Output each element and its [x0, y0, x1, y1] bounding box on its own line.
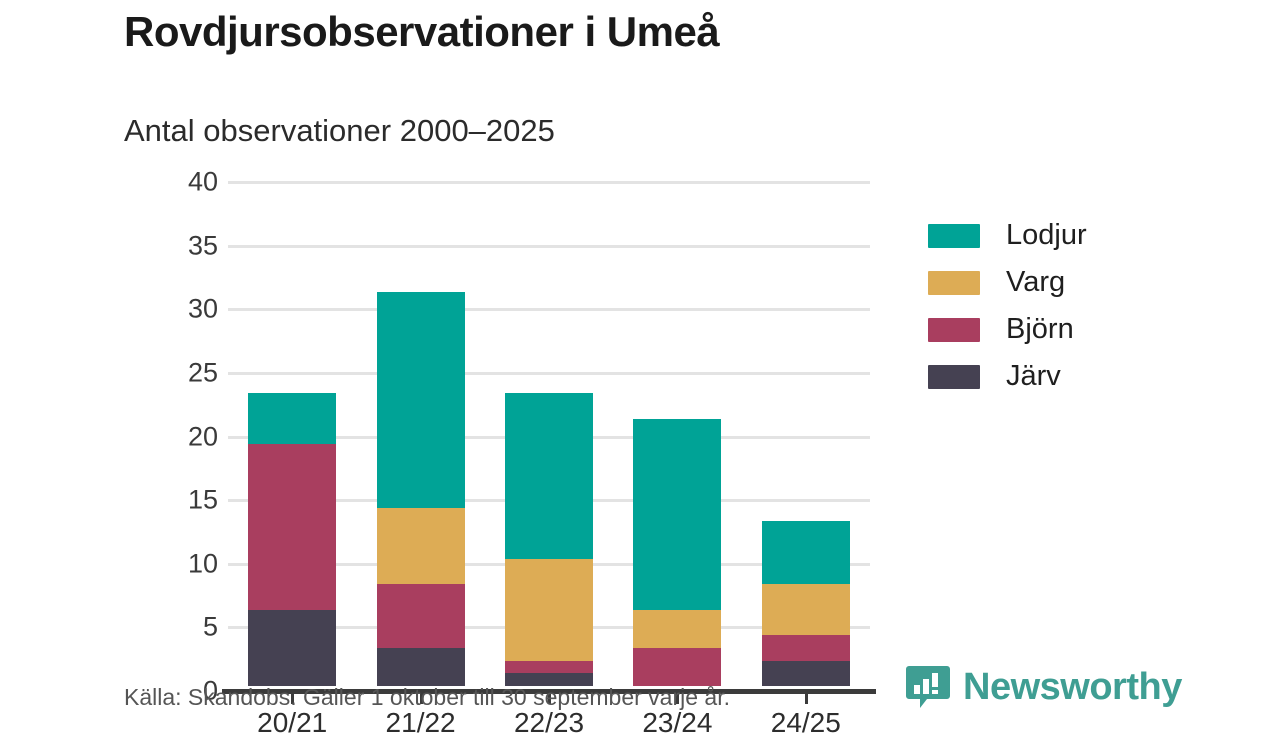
bar-segment-björn[interactable]: [377, 584, 465, 648]
x-axis-tick: [805, 691, 808, 704]
bar-segment-lodjur[interactable]: [248, 393, 336, 444]
x-axis-tick-label: 22/23: [479, 707, 619, 739]
x-axis-tick-label: 20/21: [222, 707, 362, 739]
y-axis-tick-label: 40: [148, 169, 218, 196]
y-axis-tick-label: 25: [148, 359, 218, 386]
bar-stack[interactable]: [505, 393, 593, 686]
bar-segment-järv[interactable]: [377, 648, 465, 686]
y-axis-tick-label: 35: [148, 232, 218, 259]
bar-series-container: [228, 170, 870, 691]
legend-item-lodjur[interactable]: Lodjur: [928, 212, 1087, 259]
x-axis-tick-label: 21/22: [351, 707, 491, 739]
y-axis-tick-label: 5: [148, 614, 218, 641]
legend-label: Lodjur: [1006, 219, 1087, 252]
bar-stack[interactable]: [762, 521, 850, 686]
bar-segment-björn[interactable]: [248, 444, 336, 609]
legend-swatch: [928, 365, 980, 389]
legend-label: Varg: [1006, 266, 1065, 299]
bar-chart-speech-bubble-icon: [905, 664, 951, 710]
y-axis-tick-label: 10: [148, 550, 218, 577]
bar-segment-lodjur[interactable]: [762, 521, 850, 585]
x-axis-tick-label: 24/25: [736, 707, 876, 739]
legend-swatch: [928, 224, 980, 248]
bar-segment-varg[interactable]: [633, 610, 721, 648]
y-axis-tick-label: 20: [148, 423, 218, 450]
bar-segment-lodjur[interactable]: [377, 292, 465, 508]
legend-label: Björn: [1006, 313, 1074, 346]
bar-segment-varg[interactable]: [505, 559, 593, 661]
bar-segment-varg[interactable]: [762, 584, 850, 635]
bar-segment-björn[interactable]: [633, 648, 721, 686]
legend-label: Järv: [1006, 360, 1061, 393]
logo-wordmark: Newsworthy: [963, 666, 1182, 709]
bar-segment-varg[interactable]: [377, 508, 465, 584]
y-axis-tick-label: 15: [148, 487, 218, 514]
bar-segment-björn[interactable]: [505, 661, 593, 674]
legend-swatch: [928, 271, 980, 295]
bar-stack[interactable]: [633, 419, 721, 686]
legend-item-järv[interactable]: Järv: [928, 353, 1087, 400]
bar-segment-lodjur[interactable]: [633, 419, 721, 610]
legend-swatch: [928, 318, 980, 342]
newsworthy-logo: Newsworthy: [905, 664, 1182, 710]
bar-stack[interactable]: [377, 292, 465, 686]
chart-plot-area: 0510152025303540 20/2121/2222/2323/2424/…: [0, 170, 1280, 530]
bar-segment-björn[interactable]: [762, 635, 850, 660]
bar-stack[interactable]: [248, 393, 336, 686]
chart-page: Rovdjursobservationer i Umeå Antal obser…: [0, 0, 1280, 720]
chart-legend: LodjurVargBjörnJärv: [928, 212, 1087, 400]
chart-subtitle: Antal observationer 2000–2025: [124, 113, 555, 149]
legend-item-varg[interactable]: Varg: [928, 259, 1087, 306]
bar-segment-lodjur[interactable]: [505, 393, 593, 558]
source-note: Källa: Skandobs. Gäller 1 oktober till 3…: [124, 684, 730, 711]
bar-segment-järv[interactable]: [248, 610, 336, 686]
y-axis-tick-label: 30: [148, 296, 218, 323]
legend-item-björn[interactable]: Björn: [928, 306, 1087, 353]
x-axis-tick-label: 23/24: [607, 707, 747, 739]
page-title: Rovdjursobservationer i Umeå: [124, 8, 719, 56]
y-axis-tick-labels: 0510152025303540: [148, 352, 218, 692]
bar-segment-järv[interactable]: [762, 661, 850, 686]
